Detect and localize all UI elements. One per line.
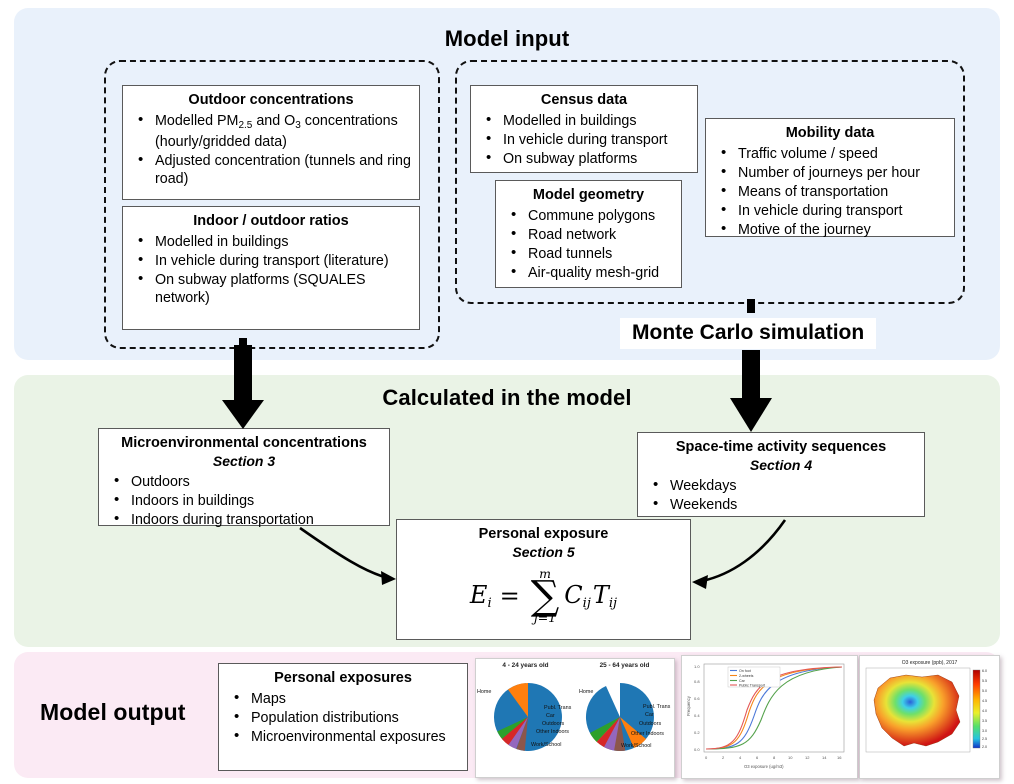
formula-equals: =	[500, 582, 520, 610]
list-item: Modelled in buildings	[133, 233, 411, 251]
box-title: Microenvironmental concentrations	[99, 429, 389, 453]
pie-label: Home	[477, 689, 491, 695]
list-item: In vehicle during transport	[481, 131, 689, 149]
monte-carlo-label: Monte Carlo simulation	[620, 318, 876, 349]
pie-chart-25-64	[575, 669, 674, 765]
legend-label: On foot	[739, 669, 751, 673]
y-tick-label: 0.6	[694, 696, 700, 701]
colorbar-tick: 3.0	[982, 729, 987, 733]
formula-lhs: E	[470, 581, 488, 609]
box-outdoor-concentrations: Outdoor concentrations Modelled PM2.5 an…	[122, 85, 420, 200]
section-ref: Section 4	[638, 457, 924, 475]
map-title: O3 exposure (ppb), 2017	[860, 656, 999, 666]
box-mobility-data: Mobility data Traffic volume / speed Num…	[705, 118, 955, 237]
pie-label: Work/School	[621, 743, 651, 749]
map-graphic: 6.0 5.5 5.0 4.5 4.0 3.5 3.0 2.5 2.0	[860, 666, 999, 770]
diagram-canvas: Model input Calculated in the model Mode…	[0, 0, 1014, 784]
colorbar-tick: 5.0	[982, 689, 987, 693]
bullet-list: Maps Population distributions Microenvir…	[219, 688, 467, 753]
box-model-geometry: Model geometry Commune polygons Road net…	[495, 180, 682, 288]
x-tick-label: 2	[722, 755, 725, 760]
y-tick-label: 0.2	[694, 730, 700, 735]
colorbar-tick: 5.5	[982, 679, 987, 683]
bullet-list: Modelled in buildings In vehicle during …	[471, 110, 697, 175]
box-microenvironmental-concentrations: Microenvironmental concentrations Sectio…	[98, 428, 390, 526]
x-tick-label: 8	[773, 755, 776, 760]
box-title: Personal exposures	[219, 664, 467, 688]
formula-lhs-sub: i	[487, 596, 491, 611]
exposure-formula: Ei = m ∑ j=1 Cij Tij	[397, 568, 690, 624]
colorbar-tick: 2.5	[982, 737, 987, 741]
bullet-list: Modelled PM2.5 and O3 concentrations (ho…	[123, 110, 419, 195]
x-tick-label: 6	[756, 755, 759, 760]
list-item: In vehicle during transport	[716, 202, 946, 220]
list-item: Commune polygons	[506, 207, 673, 225]
y-tick-label: 1.0	[694, 664, 700, 669]
pie-label: Other Indoors	[631, 731, 664, 737]
pie-label: Outdoors	[639, 721, 661, 727]
colorbar-tick: 6.0	[982, 669, 987, 673]
list-item: Traffic volume / speed	[716, 145, 946, 163]
bullet-list: Traffic volume / speed Number of journey…	[706, 143, 954, 246]
formula-term2: T	[593, 581, 609, 609]
x-tick-label: 4	[739, 755, 742, 760]
pie-charts-thumbnail: 4 - 24 years old Home Work/School	[475, 658, 675, 778]
box-title: Model geometry	[496, 181, 681, 205]
list-item: Microenvironmental exposures	[229, 728, 459, 746]
y-tick-label: 0.0	[694, 747, 700, 752]
cdf-plot: 0.0 0.2 0.4 0.6 0.8 1.0 0 2 4 6 8 10 12 …	[682, 656, 857, 778]
legend-label: Car	[739, 679, 746, 683]
exposure-map-thumbnail: O3 exposure (ppb), 2017	[859, 655, 1000, 779]
colorbar-tick: 4.5	[982, 699, 987, 703]
formula-term1-sub: ij	[583, 596, 591, 611]
x-tick-label: 16	[837, 755, 842, 760]
colorbar-tick: 3.5	[982, 719, 987, 723]
list-item: On subway platforms (SQUALES network)	[133, 271, 411, 307]
x-tick-label: 12	[805, 755, 810, 760]
bullet-list: Outdoors Indoors in buildings Indoors du…	[99, 471, 389, 536]
list-item: Population distributions	[229, 709, 459, 727]
list-item: Air-quality mesh-grid	[506, 264, 673, 282]
cdf-curves-thumbnail: 0.0 0.2 0.4 0.6 0.8 1.0 0 2 4 6 8 10 12 …	[681, 655, 858, 779]
pie-label: Publ. Trans	[544, 705, 571, 711]
summation-symbol: m ∑ j=1	[531, 568, 560, 624]
list-item: On subway platforms	[481, 150, 689, 168]
x-tick-label: 0	[705, 755, 708, 760]
box-indoor-outdoor-ratios: Indoor / outdoor ratios Modelled in buil…	[122, 206, 420, 330]
band-title-model-output: Model output	[40, 699, 186, 726]
y-axis-label: Frequency	[686, 695, 691, 716]
pie-label: Publ. Trans	[643, 704, 670, 710]
box-census-data: Census data Modelled in buildings In veh…	[470, 85, 698, 173]
box-personal-exposures-outputs: Personal exposures Maps Population distr…	[218, 663, 468, 771]
pie-label: Other Indoors	[536, 729, 569, 735]
pie-label: Home	[579, 689, 593, 695]
pie-label: Outdoors	[542, 721, 564, 727]
list-item: Means of transportation	[716, 183, 946, 201]
legend-label: 2-wheels	[739, 674, 754, 678]
pie-chart-title: 4 - 24 years old	[476, 659, 575, 669]
list-item: Weekends	[648, 496, 916, 514]
box-title: Indoor / outdoor ratios	[123, 207, 419, 231]
list-item: Indoors during transportation	[109, 511, 381, 529]
band-title-calculated: Calculated in the model	[14, 385, 1000, 411]
x-tick-label: 10	[788, 755, 793, 760]
bullet-list: Commune polygons Road network Road tunne…	[496, 205, 681, 289]
list-item: Motive of the journey	[716, 221, 946, 239]
pie-chart-4-24	[476, 669, 575, 765]
x-axis-label: O3 exposure (ug/m3)	[744, 764, 784, 769]
list-item: Road tunnels	[506, 245, 673, 263]
pie-label: Work/School	[531, 742, 561, 748]
list-item: Road network	[506, 226, 673, 244]
pie-chart-title: 25 - 64 years old	[575, 659, 674, 669]
list-item: In vehicle during transport (literature)	[133, 252, 411, 270]
bullet-list: Modelled in buildings In vehicle during …	[123, 231, 419, 314]
formula-term2-sub: ij	[609, 596, 617, 611]
x-tick-label: 14	[822, 755, 827, 760]
colorbar-tick: 2.0	[982, 745, 987, 749]
list-item: Modelled PM2.5 and O3 concentrations (ho…	[133, 112, 411, 151]
list-item: Modelled in buildings	[481, 112, 689, 130]
box-title: Census data	[471, 86, 697, 110]
cdf-legend: On foot 2-wheels Car Public Transport	[728, 667, 780, 688]
section-ref: Section 3	[99, 453, 389, 471]
list-item: Adjusted concentration (tunnels and ring…	[133, 152, 411, 188]
colorbar-tick: 4.0	[982, 709, 987, 713]
box-space-time-activity-sequences: Space-time activity sequences Section 4 …	[637, 432, 925, 517]
y-tick-label: 0.4	[694, 713, 700, 718]
box-title: Mobility data	[706, 119, 954, 143]
y-tick-label: 0.8	[694, 679, 700, 684]
sum-lower-limit: j=1	[534, 612, 556, 625]
list-item: Number of journeys per hour	[716, 164, 946, 182]
list-item: Indoors in buildings	[109, 492, 381, 510]
formula-term1: C	[564, 581, 582, 609]
pie-label: Car	[546, 713, 555, 719]
box-title: Outdoor concentrations	[123, 86, 419, 110]
box-personal-exposure: Personal exposure Section 5 Ei = m ∑ j=1…	[396, 519, 691, 640]
section-ref: Section 5	[397, 544, 690, 562]
list-item: Weekdays	[648, 477, 916, 495]
box-title: Space-time activity sequences	[638, 433, 924, 457]
list-item: Outdoors	[109, 473, 381, 491]
legend-label: Public Transport	[739, 684, 765, 688]
map-colorbar	[973, 670, 980, 748]
pie-label: Car	[645, 712, 654, 718]
bullet-list: Weekdays Weekends	[638, 475, 924, 521]
box-title: Personal exposure	[397, 520, 690, 544]
band-title-model-input: Model input	[14, 26, 1000, 52]
list-item: Maps	[229, 690, 459, 708]
